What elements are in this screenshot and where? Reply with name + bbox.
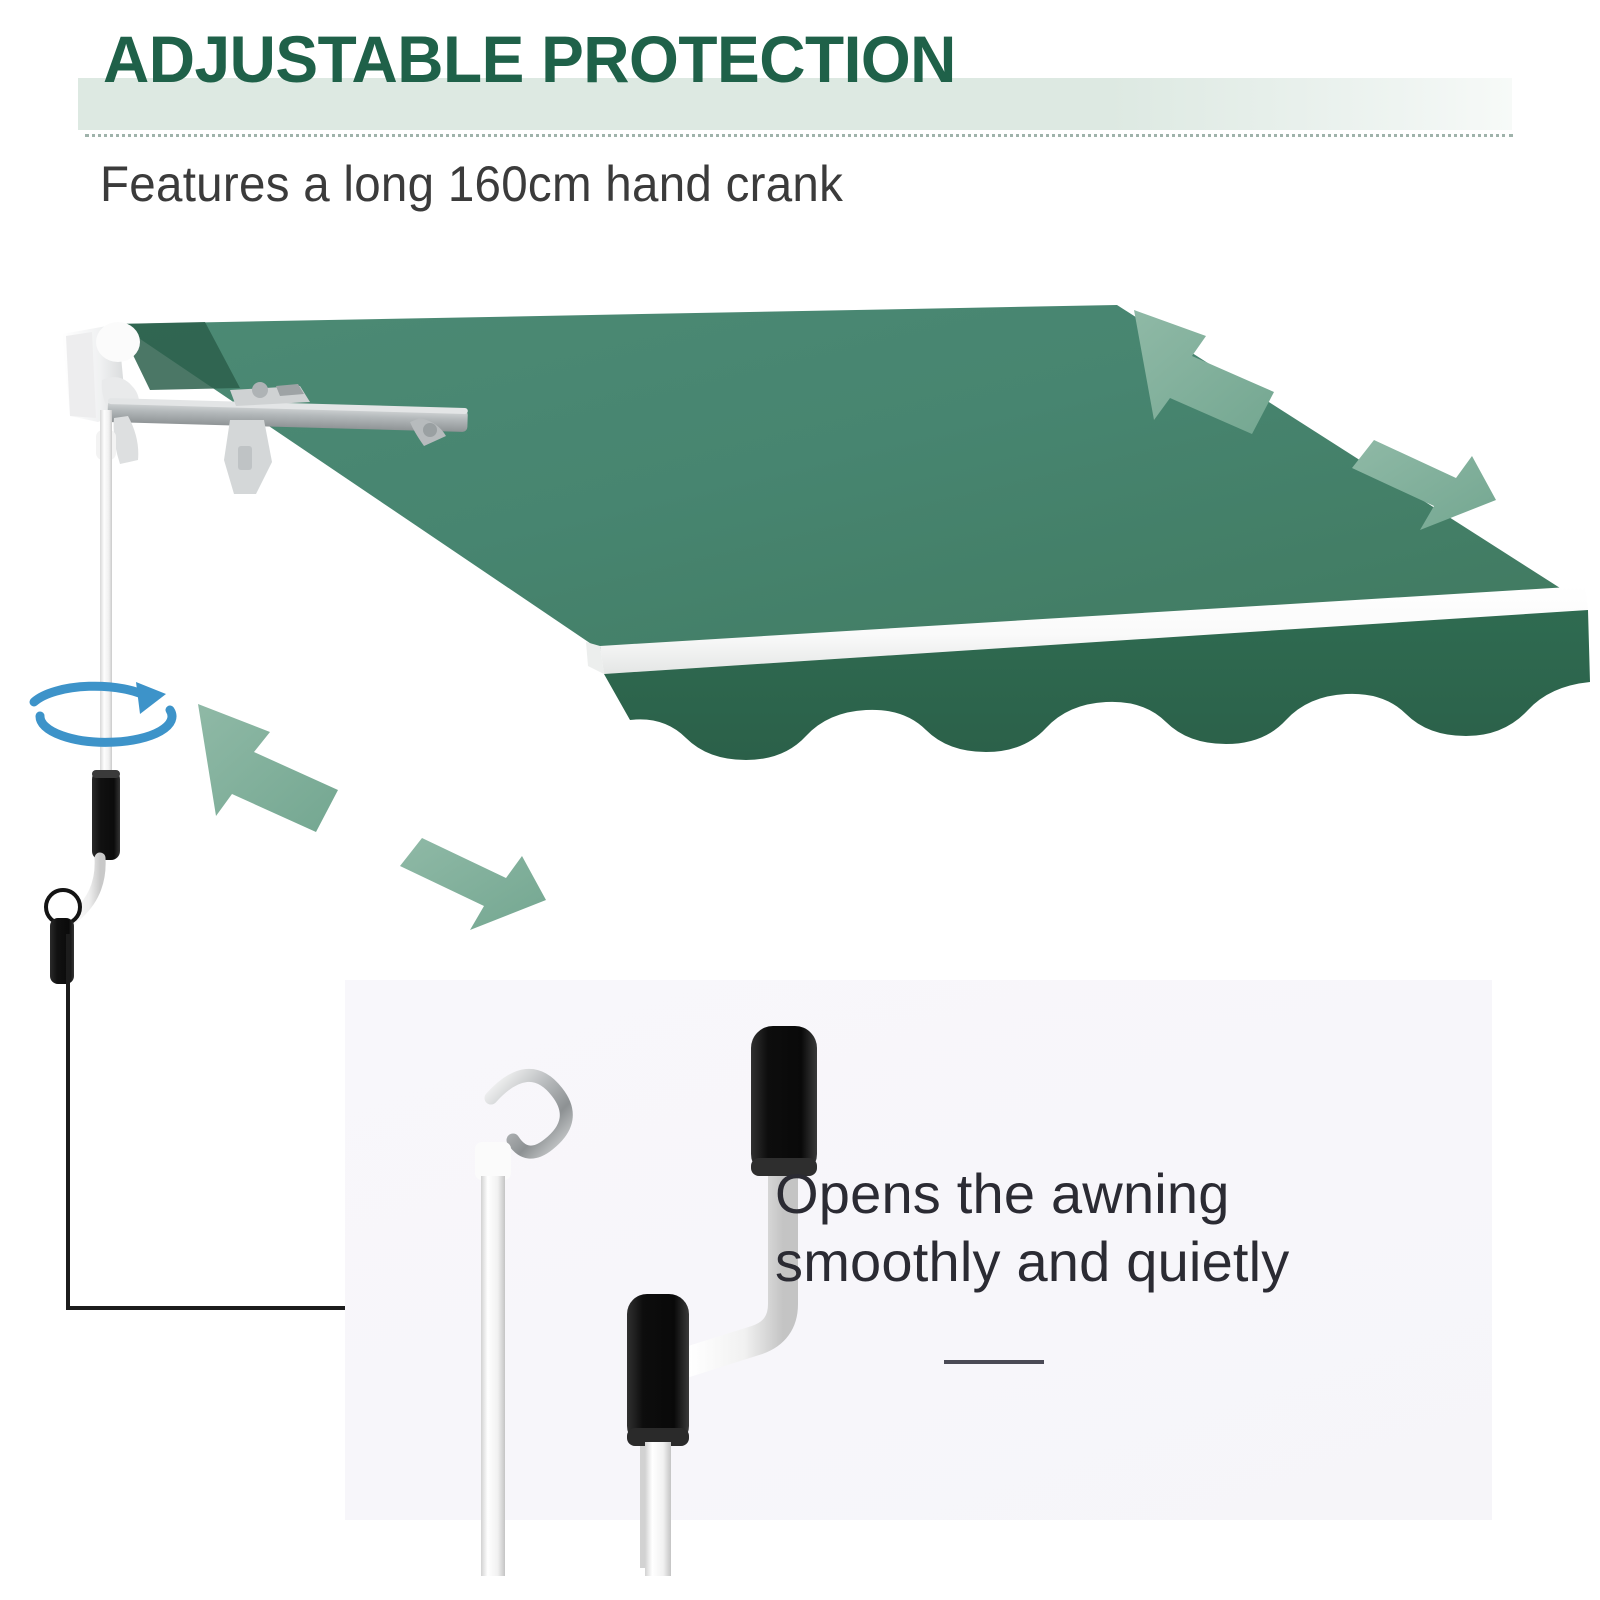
page-title: ADJUSTABLE PROTECTION [103, 26, 956, 92]
panel-caption: Opens the awning smoothly and quietly [775, 1160, 1395, 1297]
infographic-page: ADJUSTABLE PROTECTION Features a long 16… [0, 0, 1600, 1600]
page-subtitle: Features a long 160cm hand crank [100, 155, 843, 213]
panel-caption-line1: Opens the awning [775, 1160, 1395, 1228]
crank-grip-upper [92, 770, 120, 860]
panel-caption-line2: smoothly and quietly [775, 1228, 1395, 1296]
header-divider [85, 134, 1513, 137]
crank-grip-top [751, 1026, 817, 1176]
extend-arrow-left [198, 704, 338, 832]
crank-grip-bottom [627, 1294, 689, 1446]
extension-rod-with-hook [475, 1075, 566, 1576]
hand-crank [627, 1026, 817, 1576]
panel-accent-rule [944, 1360, 1044, 1364]
metal-hook-icon [491, 1075, 566, 1152]
